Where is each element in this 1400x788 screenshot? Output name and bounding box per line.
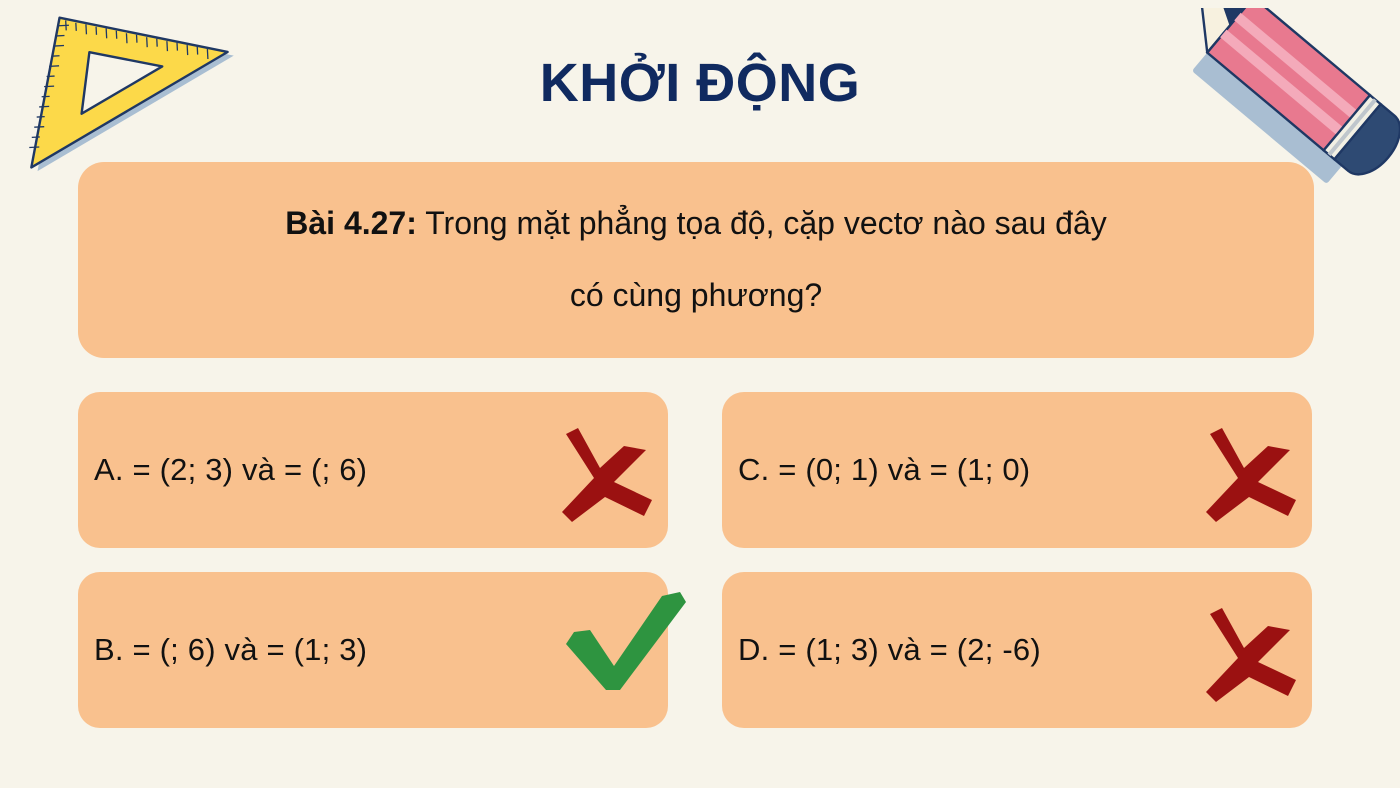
answer-c-text: C. = (0; 1) và = (1; 0) (738, 452, 1030, 488)
wrong-mark-icon (548, 420, 660, 536)
wrong-mark-icon (1192, 600, 1304, 716)
answer-option-a[interactable]: A. = (2; 3) và = (; 6) (78, 392, 668, 548)
question-text-1: Trong mặt phẳng tọa độ, cặp vectơ nào sa… (417, 205, 1107, 241)
slide-canvas: KHỞI ĐỘNG Bài 4.27: Trong mặt phẳng tọa … (0, 0, 1400, 788)
wrong-mark-icon (1192, 420, 1304, 536)
page-title: KHỞI ĐỘNG (0, 54, 1400, 113)
answer-option-b[interactable]: B. = (; 6) và = (1; 3) (78, 572, 668, 728)
answer-d-text: D. = (1; 3) và = (2; -6) (738, 632, 1041, 668)
question-line-2: có cùng phương? (570, 277, 822, 314)
answer-b-text: B. = (; 6) và = (1; 3) (94, 632, 367, 668)
correct-mark-icon (562, 590, 690, 700)
question-panel: Bài 4.27: Trong mặt phẳng tọa độ, cặp ve… (78, 162, 1314, 358)
answer-option-d[interactable]: D. = (1; 3) và = (2; -6) (722, 572, 1312, 728)
answer-option-c[interactable]: C. = (0; 1) và = (1; 0) (722, 392, 1312, 548)
answer-a-text: A. = (2; 3) và = (; 6) (94, 452, 367, 488)
question-line-1: Bài 4.27: Trong mặt phẳng tọa độ, cặp ve… (285, 207, 1107, 239)
question-label: Bài 4.27: (285, 205, 417, 241)
